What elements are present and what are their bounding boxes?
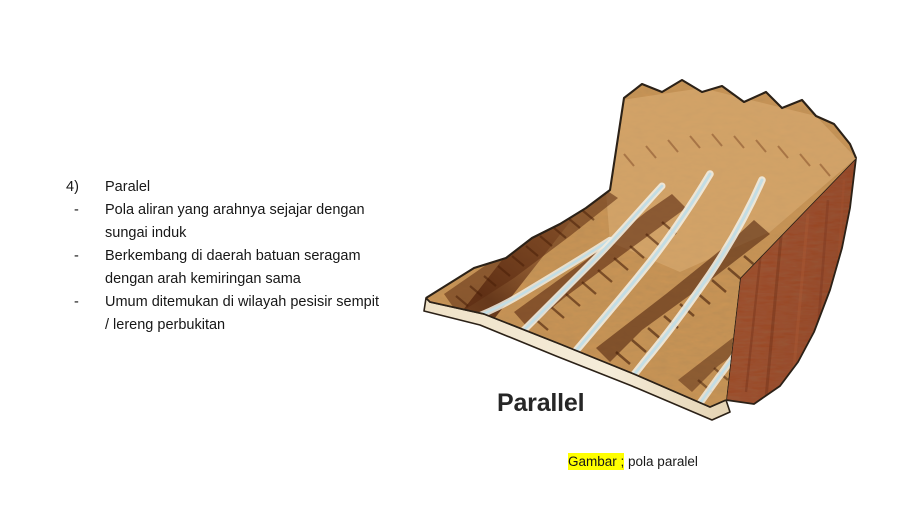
bullet-2-line-2: dengan arah kemiringan sama [105, 268, 400, 291]
bullet-3-line-1: Umum ditemukan di wilayah pesisir sempit [105, 291, 400, 314]
list-item-bullet-2: - Berkembang di daerah batuan seragam [62, 245, 400, 268]
list-heading-label: Paralel [105, 176, 400, 199]
dash-marker-2: - [62, 245, 105, 268]
bullet-3-line-2: / lereng perbukitan [105, 314, 400, 337]
caption-rest-text: pola paralel [624, 454, 698, 469]
dash-marker-1: - [62, 199, 105, 222]
list-item-bullet-1: - Pola aliran yang arahnya sejajar denga… [62, 199, 400, 222]
content-text-block: 4) Paralel - Pola aliran yang arahnya se… [62, 176, 400, 337]
bullet-1-line-2: sungai induk [105, 222, 400, 245]
bullet-2-line-1: Berkembang di daerah batuan seragam [105, 245, 400, 268]
list-item-heading: 4) Paralel [62, 176, 400, 199]
block-diagram-svg [410, 62, 880, 422]
caption-highlighted-text: Gambar ; [568, 453, 624, 470]
list-item-bullet-2-cont: dengan arah kemiringan sama [62, 268, 400, 291]
parallel-drainage-illustration [410, 62, 880, 422]
bullet-1-line-1: Pola aliran yang arahnya sejajar dengan [105, 199, 400, 222]
list-item-bullet-3-cont: / lereng perbukitan [62, 314, 400, 337]
dash-marker-3: - [62, 291, 105, 314]
illustration-label: Parallel [497, 389, 584, 418]
figure-caption: Gambar ; pola paralel [568, 453, 698, 471]
list-item-bullet-3: - Umum ditemukan di wilayah pesisir semp… [62, 291, 400, 314]
list-number-marker: 4) [62, 176, 105, 199]
list-item-bullet-1-cont: sungai induk [62, 222, 400, 245]
